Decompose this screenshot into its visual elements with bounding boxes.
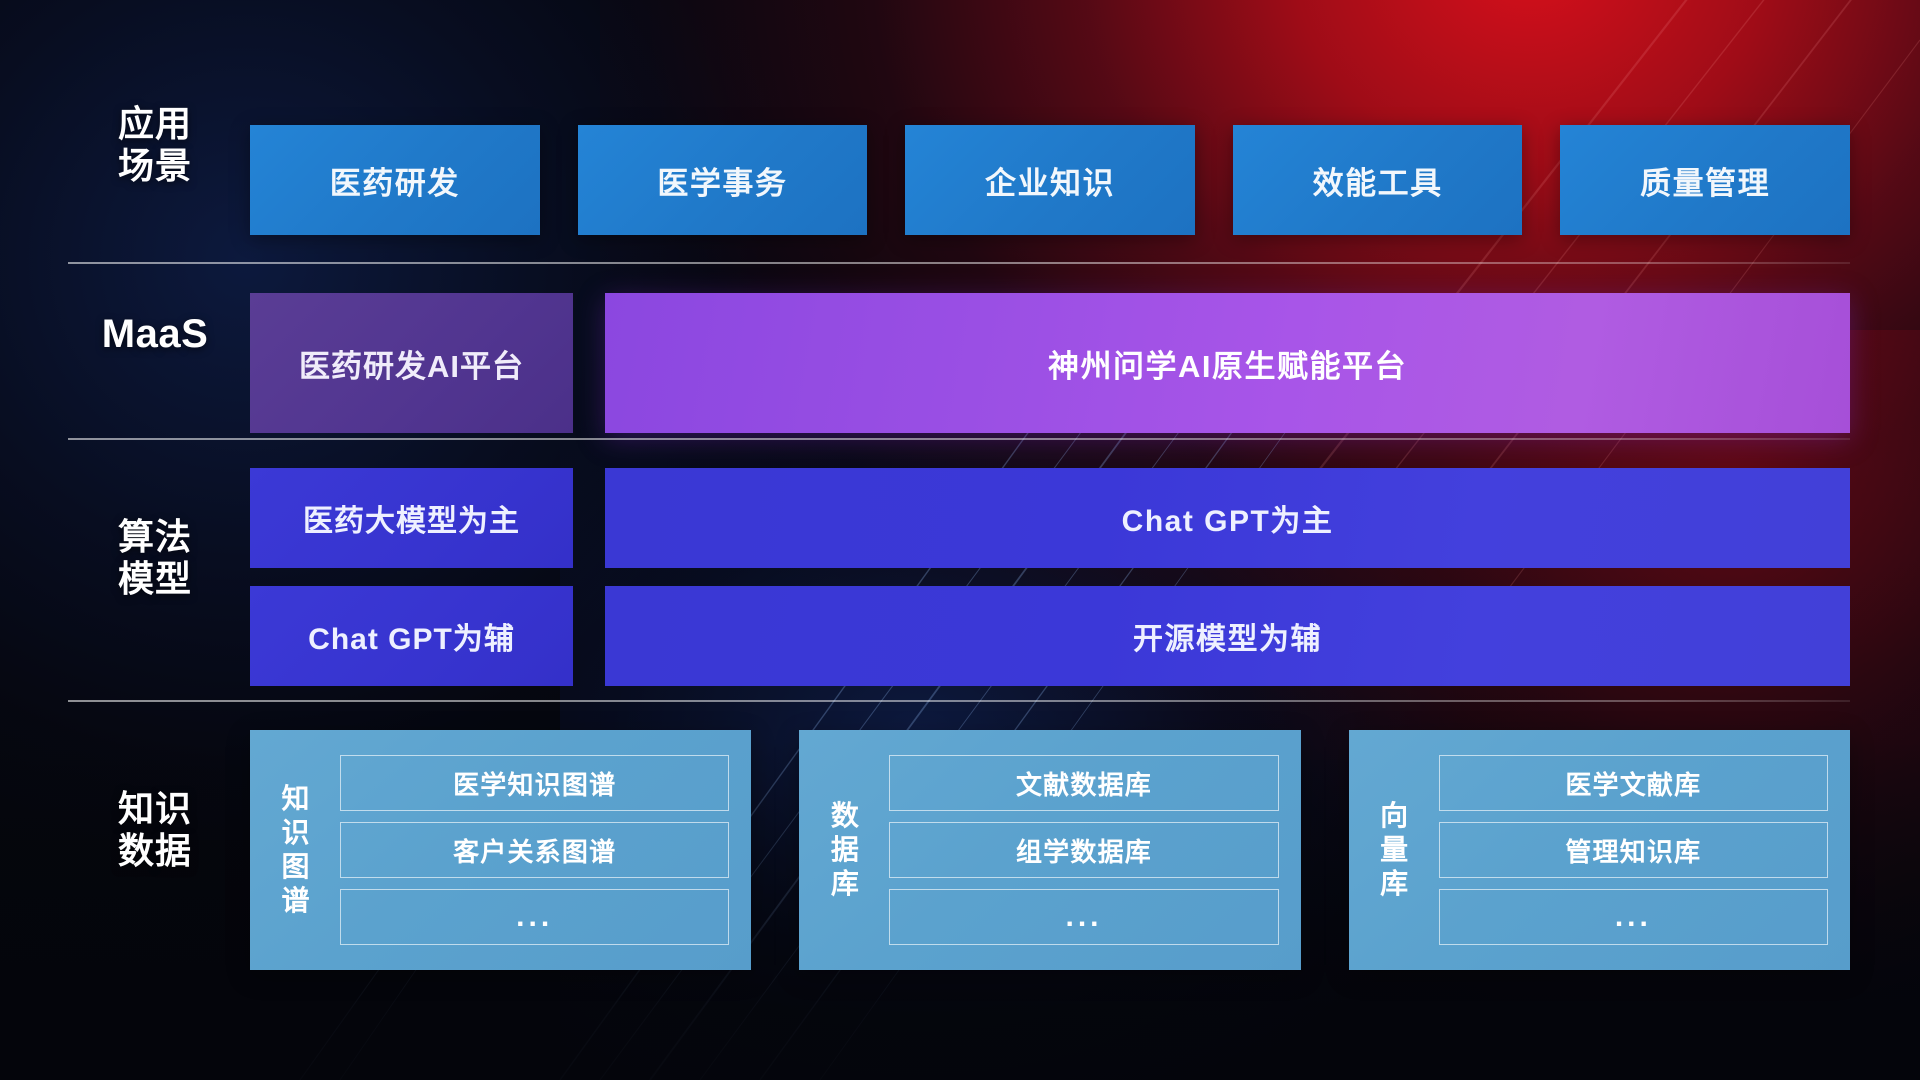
divider-apps-maas [68,262,1850,264]
algorithm-row-secondary: Chat GPT为辅 开源模型为辅 [0,586,1920,686]
knowledge-item-more[interactable]: ... [1439,889,1828,945]
maas-box-shenzhou-wenxue-platform[interactable]: 神州问学AI原生赋能平台 [605,293,1850,433]
tier-application-scenarios: 应用 场景 医药研发 医学事务 企业知识 效能工具 质量管理 [0,125,1920,235]
tier-knowledge-data: 知识 数据 知识图谱 医学知识图谱 客户关系图谱 ... 数据库 文献数据库 [0,730,1920,970]
tier-label-line1: 应用 [60,103,250,145]
knowledge-item-list: 医学知识图谱 客户关系图谱 ... [340,746,729,954]
algo-box-opensource-secondary[interactable]: 开源模型为辅 [605,586,1850,686]
knowledge-group-label-vector-store: 向量库 [1367,799,1423,901]
knowledge-group-knowledge-graph[interactable]: 知识图谱 医学知识图谱 客户关系图谱 ... [250,730,751,970]
knowledge-item-omics-database[interactable]: 组学数据库 [889,822,1278,878]
app-box-medical-affairs[interactable]: 医学事务 [578,125,868,235]
tier-maas: MaaS 医药研发AI平台 神州问学AI原生赋能平台 [0,293,1920,433]
knowledge-item-more[interactable]: ... [889,889,1278,945]
knowledge-group-database[interactable]: 数据库 文献数据库 组学数据库 ... [799,730,1300,970]
maas-box-drug-rd-ai-platform[interactable]: 医药研发AI平台 [250,293,573,433]
knowledge-item-customer-relation-graph[interactable]: 客户关系图谱 [340,822,729,878]
divider-maas-algo [68,438,1850,440]
knowledge-group-label-knowledge-graph: 知识图谱 [268,782,324,919]
tier-label-maas: MaaS [60,311,250,358]
tier-label-knowledge-data: 知识 数据 [60,788,250,873]
application-scenario-list: 医药研发 医学事务 企业知识 效能工具 质量管理 [250,125,1850,235]
knowledge-item-more[interactable]: ... [340,889,729,945]
app-box-quality-management[interactable]: 质量管理 [1560,125,1850,235]
tier-label-line2: 数据 [60,830,250,872]
knowledge-group-label-database: 数据库 [817,799,873,901]
knowledge-item-literature-database[interactable]: 文献数据库 [889,755,1278,811]
app-box-enterprise-knowledge[interactable]: 企业知识 [905,125,1195,235]
algo-box-chatgpt-primary[interactable]: Chat GPT为主 [605,468,1850,568]
knowledge-item-management-knowledge-store[interactable]: 管理知识库 [1439,822,1828,878]
knowledge-item-list: 文献数据库 组学数据库 ... [889,746,1278,954]
tier-label-line1: 知识 [60,788,250,830]
tier-label-line2: 场景 [60,145,250,187]
knowledge-item-medical-knowledge-graph[interactable]: 医学知识图谱 [340,755,729,811]
knowledge-item-medical-literature-store[interactable]: 医学文献库 [1439,755,1828,811]
algo-box-medical-llm-primary[interactable]: 医药大模型为主 [250,468,573,568]
app-box-efficiency-tools[interactable]: 效能工具 [1233,125,1523,235]
knowledge-item-list: 医学文献库 管理知识库 ... [1439,746,1828,954]
diagram-canvas: 应用 场景 医药研发 医学事务 企业知识 效能工具 质量管理 MaaS 医药研发… [0,0,1920,1080]
tier-label-application-scenarios: 应用 场景 [60,103,250,188]
divider-algo-knowledge [68,700,1850,702]
knowledge-group-list: 知识图谱 医学知识图谱 客户关系图谱 ... 数据库 文献数据库 组学数据库 .… [250,730,1850,970]
algo-box-chatgpt-secondary[interactable]: Chat GPT为辅 [250,586,573,686]
algorithm-row-primary: 医药大模型为主 Chat GPT为主 [0,468,1920,568]
app-box-drug-rd[interactable]: 医药研发 [250,125,540,235]
tier-algorithm-model: 算法 模型 医药大模型为主 Chat GPT为主 Chat GPT为辅 开源模型… [0,468,1920,688]
knowledge-group-vector-store[interactable]: 向量库 医学文献库 管理知识库 ... [1349,730,1850,970]
